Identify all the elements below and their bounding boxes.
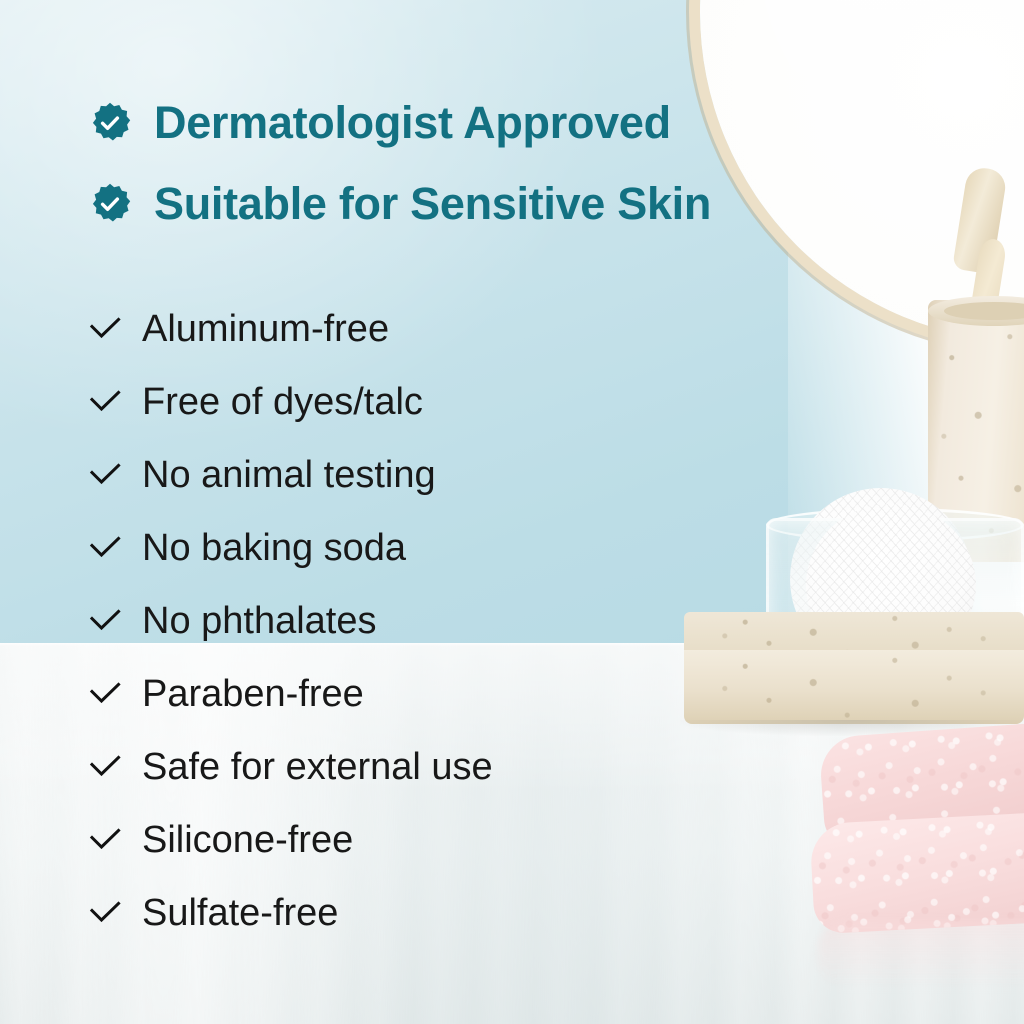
feature-label: No phthalates xyxy=(142,602,377,640)
headline-block: Dermatologist Approved Suitable for Sens… xyxy=(88,100,711,262)
list-item: Aluminum-free xyxy=(88,292,493,365)
list-item: No animal testing xyxy=(88,438,493,511)
feature-label: Free of dyes/talc xyxy=(142,383,423,421)
checkmark-icon xyxy=(88,896,122,930)
verified-seal-icon xyxy=(88,182,132,226)
verified-seal-icon xyxy=(88,101,132,145)
list-item: No phthalates xyxy=(88,584,493,657)
list-item: Silicone-free xyxy=(88,803,493,876)
checkmark-icon xyxy=(88,677,122,711)
checkmark-icon xyxy=(88,823,122,857)
feature-label: No baking soda xyxy=(142,529,406,567)
headline-label: Suitable for Sensitive Skin xyxy=(154,181,711,226)
checkmark-icon xyxy=(88,750,122,784)
checkmark-icon xyxy=(88,604,122,638)
feature-label: No animal testing xyxy=(142,456,436,494)
headline-label: Dermatologist Approved xyxy=(154,100,671,145)
feature-label: Safe for external use xyxy=(142,748,493,786)
list-item: Safe for external use xyxy=(88,730,493,803)
feature-label: Sulfate-free xyxy=(142,894,338,932)
list-item: No baking soda xyxy=(88,511,493,584)
feature-label: Paraben-free xyxy=(142,675,364,713)
checkmark-icon xyxy=(88,531,122,565)
list-item: Sulfate-free xyxy=(88,876,493,949)
headline-row-dermatologist: Dermatologist Approved xyxy=(88,100,711,145)
checkmark-icon xyxy=(88,312,122,346)
list-item: Paraben-free xyxy=(88,657,493,730)
checkmark-icon xyxy=(88,385,122,419)
checkmark-icon xyxy=(88,458,122,492)
product-benefits-graphic: Dermatologist Approved Suitable for Sens… xyxy=(0,0,1024,1024)
headline-row-sensitive-skin: Suitable for Sensitive Skin xyxy=(88,181,711,226)
content-overlay: Dermatologist Approved Suitable for Sens… xyxy=(0,0,1024,1024)
feature-label: Aluminum-free xyxy=(142,310,389,348)
list-item: Free of dyes/talc xyxy=(88,365,493,438)
feature-label: Silicone-free xyxy=(142,821,353,859)
feature-list: Aluminum-free Free of dyes/talc No anima… xyxy=(88,292,493,949)
